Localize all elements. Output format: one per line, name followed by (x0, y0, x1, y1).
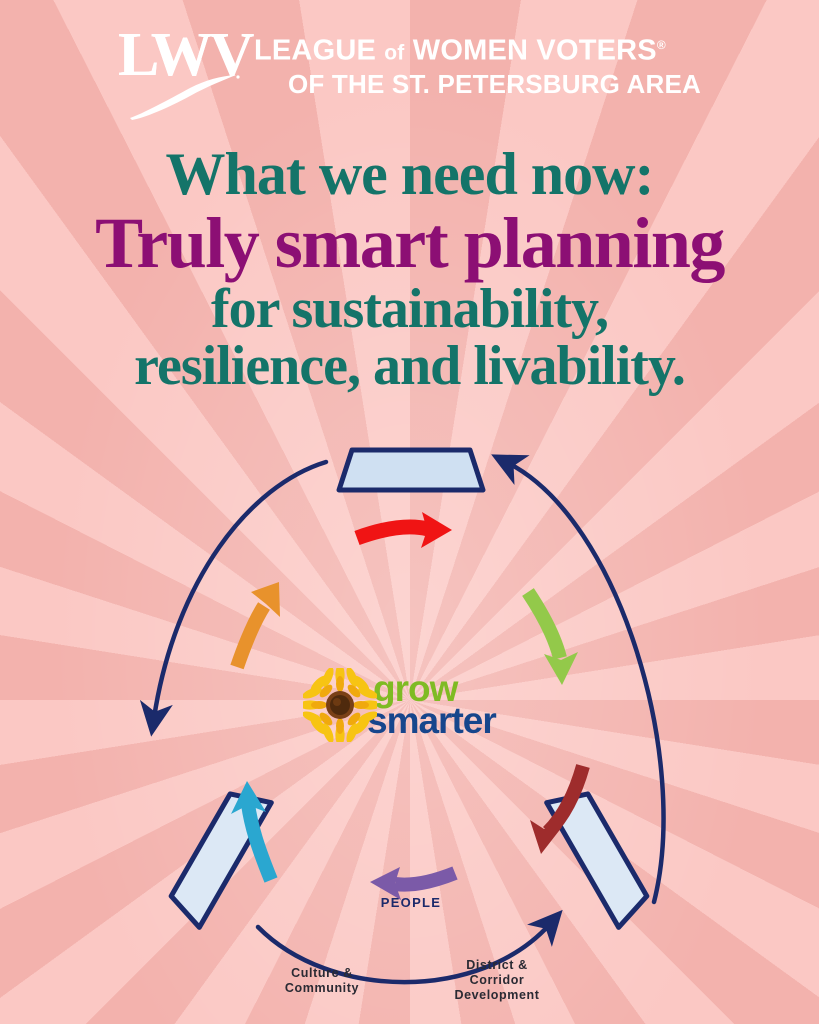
arrow-culture-to-district (357, 512, 452, 548)
lwv-line-1: LEAGUE of WOMEN VOTERS® (254, 30, 701, 69)
phase-culture-community-line1: Culture & (262, 966, 382, 981)
phase-culture-community-line2: Community (262, 981, 382, 996)
headline-line-3: for sustainability, (0, 282, 819, 337)
poster-canvas: LWV LEAGUE of WOMEN VOTERS® OF THE ST. P… (0, 0, 819, 1024)
phase-district-corridor-line1: District & (432, 958, 562, 973)
grow-smarter-wordmark: grow smarter (367, 673, 496, 737)
arrow-education-to-culture (237, 582, 280, 667)
lwv-league: LEAGUE (254, 35, 376, 67)
lwv-of: of (384, 42, 404, 65)
phase-culture-community: Culture & Community (262, 966, 382, 996)
smarter-word: smarter (367, 705, 496, 737)
lwv-line-2: OF THE ST. PETERSBURG AREA (254, 69, 701, 99)
phase-district-corridor: District & Corridor Development (432, 958, 562, 1003)
lwv-swoosh-icon (128, 74, 240, 120)
headline-line-4: resilience, and livability. (0, 339, 819, 394)
lwv-logomark: LWV (118, 24, 240, 110)
lwv-logo: LWV LEAGUE of WOMEN VOTERS® OF THE ST. P… (0, 24, 819, 110)
arc-people-to-prosperity (154, 462, 326, 718)
node-label-people[interactable]: PEOPLE (338, 882, 484, 922)
node-people-text: PEOPLE (381, 895, 442, 910)
page-title: What we need now: Truly smart planning f… (0, 145, 819, 394)
grow-smarter-logo: grow smarter (303, 660, 503, 750)
registered-icon: ® (657, 38, 666, 52)
headline-line-2: Truly smart planning (0, 208, 819, 279)
arrow-district-to-job (528, 592, 578, 685)
node-people-shape (339, 450, 483, 490)
lwv-wordmark: LEAGUE of WOMEN VOTERS® OF THE ST. PETER… (254, 24, 701, 99)
headline-line-1: What we need now: (0, 145, 819, 204)
sunflower-icon (303, 668, 377, 742)
phase-district-corridor-line2: Corridor (432, 973, 562, 988)
lwv-women-voters: WOMEN VOTERS (413, 35, 657, 67)
phase-district-corridor-line3: Development (432, 988, 562, 1003)
